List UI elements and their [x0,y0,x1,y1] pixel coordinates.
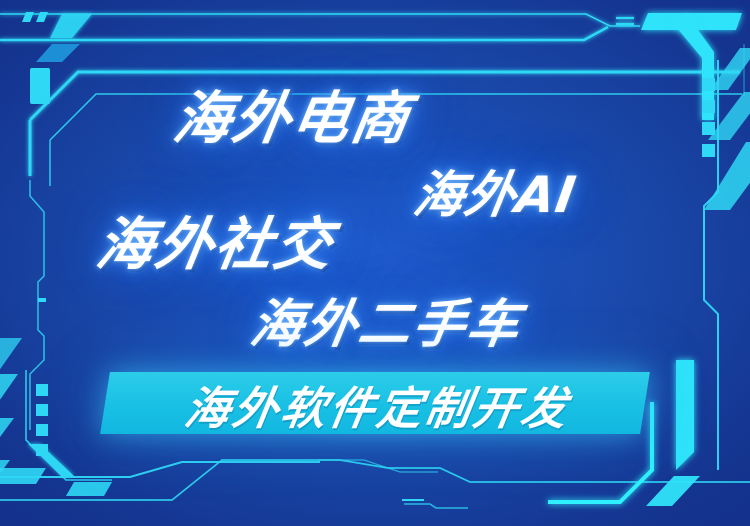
banner-label: 海外软件定制开发 [124,378,632,430]
headline-used-cars: 海外二手车 [246,282,528,357]
headline-ecommerce: 海外电商 [169,73,418,155]
headline-ai: 海外AI [409,155,582,227]
poster-canvas: 海外电商 海外AI 海外社交 海外二手车 海外软件定制开发 [0,0,750,526]
headline-social: 海外社交 [92,199,341,281]
